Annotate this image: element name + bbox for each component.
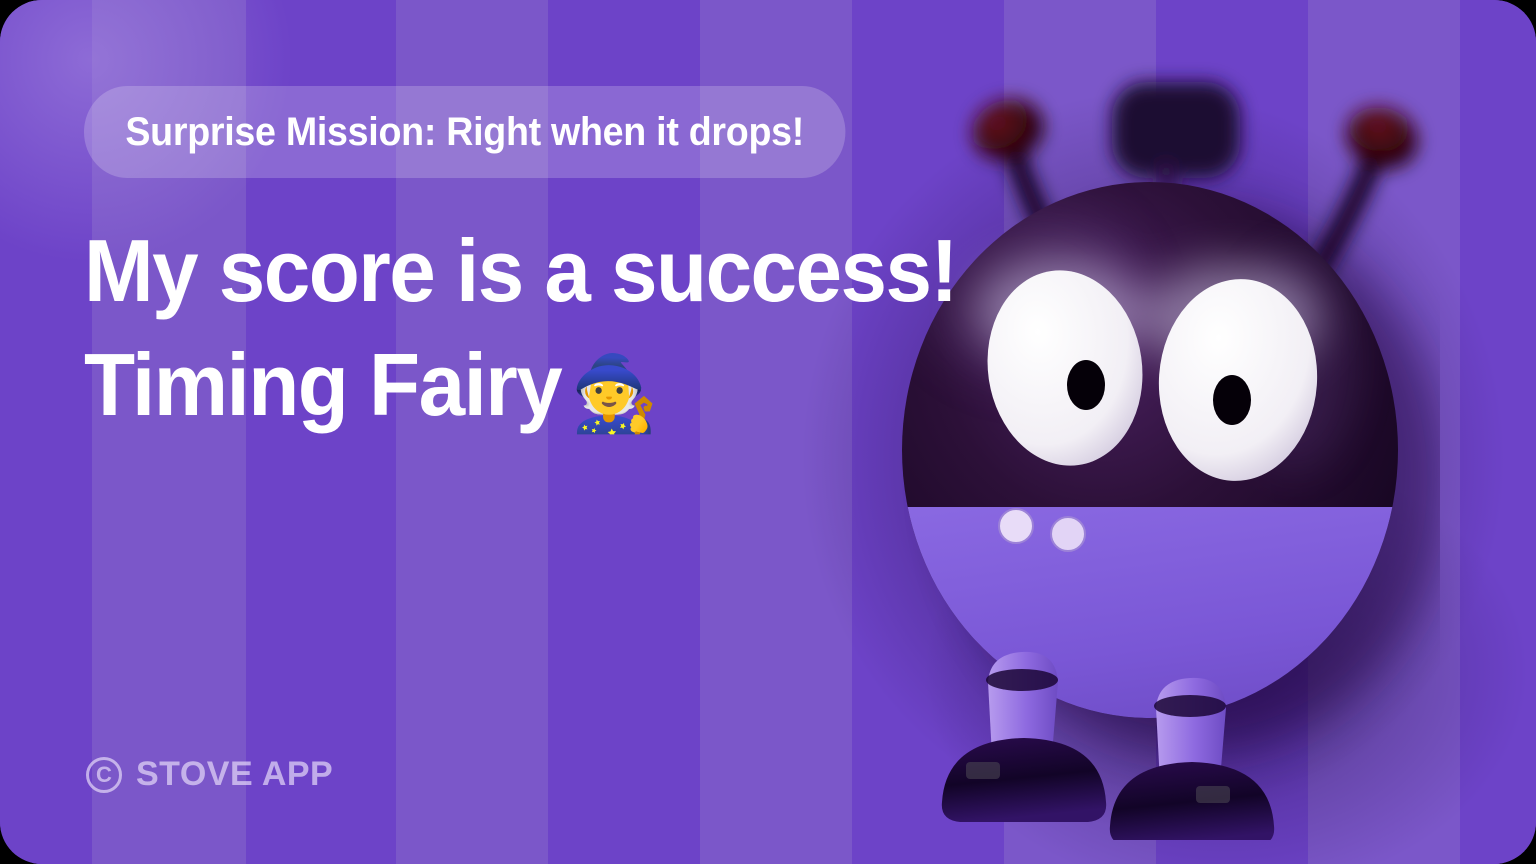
headline: My score is a success! Timing Fairy🧙: [84, 214, 863, 443]
mission-badge: Surprise Mission: Right when it drops!: [84, 86, 845, 178]
footer-brand: C STOVE APP: [86, 755, 333, 794]
headline-line-1: My score is a success!: [84, 214, 863, 328]
headline-line-2: Timing Fairy🧙: [84, 328, 863, 442]
pupil-right: [1213, 375, 1251, 425]
mascot-button-2: [1051, 517, 1085, 551]
brand-name: STOVE APP: [136, 755, 333, 794]
mascot-button-1: [999, 509, 1033, 543]
headline-line-2-text: Timing Fairy: [84, 335, 561, 434]
copyright-icon: C: [86, 757, 122, 793]
promo-card: Surprise Mission: Right when it drops! M…: [0, 0, 1536, 864]
mascot-shoe-left: [942, 738, 1106, 822]
mage-wizard-emoji: 🧙: [571, 352, 659, 435]
mascot-illustration: [880, 60, 1440, 840]
mascot-shoe-right: [1110, 762, 1274, 840]
pupil-left: [1067, 360, 1105, 410]
text-column: Surprise Mission: Right when it drops! M…: [84, 86, 904, 443]
